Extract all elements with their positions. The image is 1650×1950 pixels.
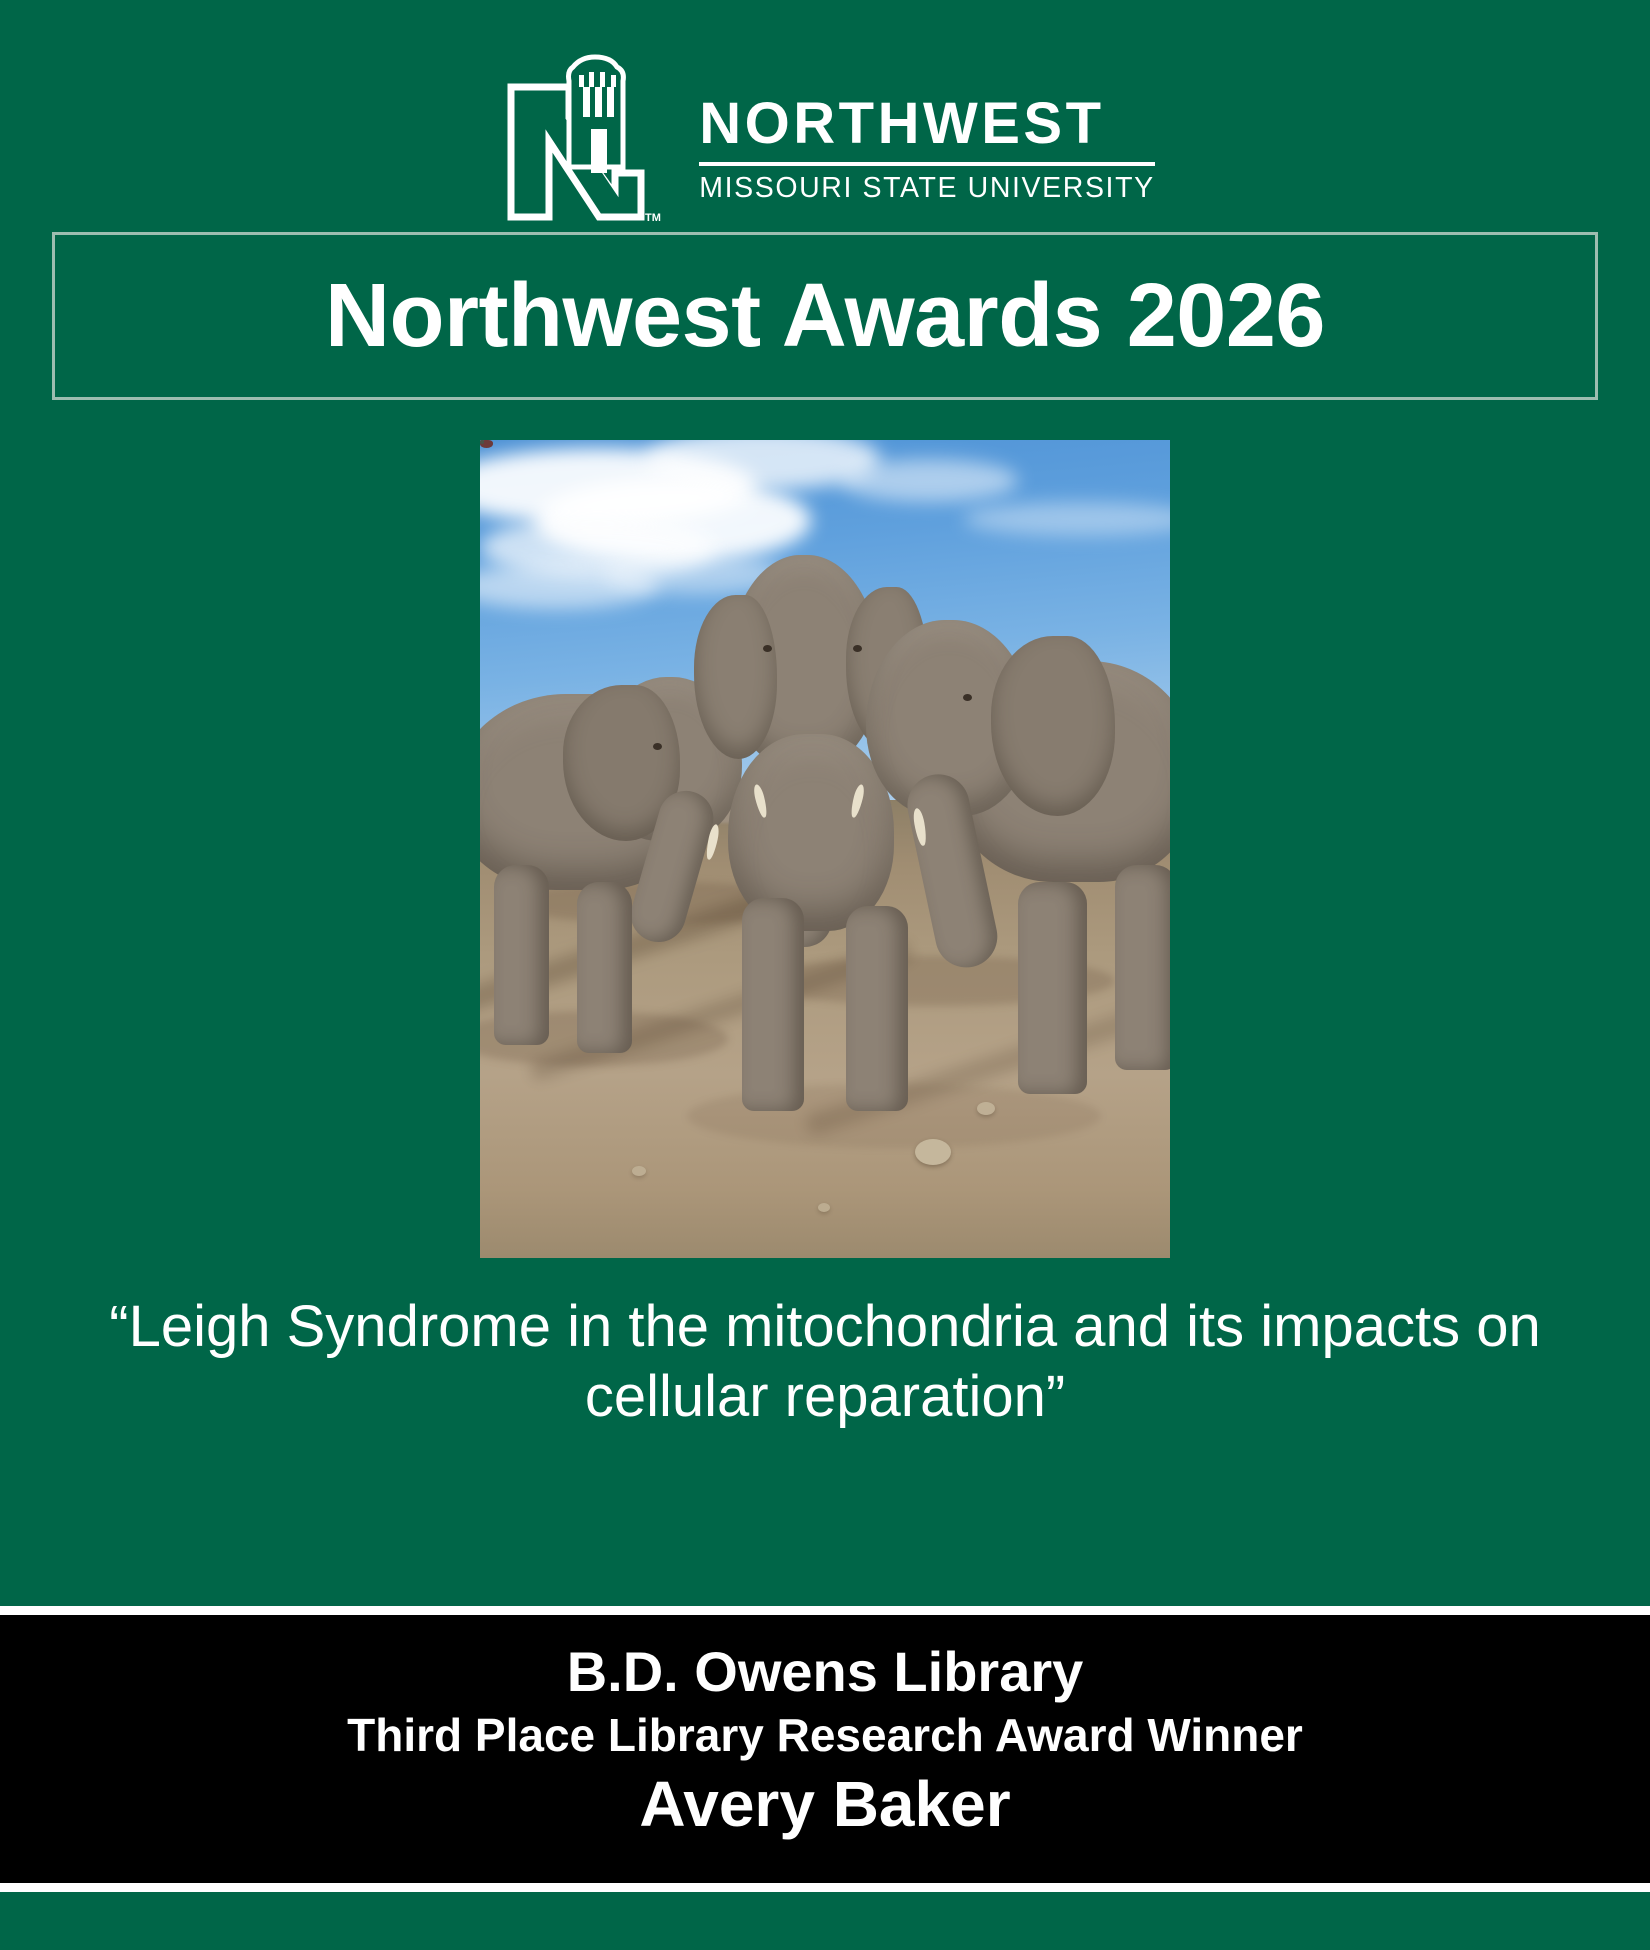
photo-section bbox=[0, 400, 1650, 1258]
footer-winner-name: Avery Baker bbox=[40, 1767, 1610, 1843]
footer-top-divider bbox=[0, 1606, 1650, 1615]
footer-bottom-divider bbox=[0, 1883, 1650, 1892]
logo-wordmark: NORTHWEST MISSOURI STATE UNIVERSITY bbox=[699, 67, 1154, 203]
page-title: Northwest Awards 2026 bbox=[325, 271, 1325, 361]
research-quote-section: “Leigh Syndrome in the mitochondria and … bbox=[0, 1258, 1650, 1606]
footer-section: B.D. Owens Library Third Place Library R… bbox=[0, 1615, 1650, 1883]
svg-text:TM: TM bbox=[645, 212, 661, 224]
logo-wordmark-bottom: MISSOURI STATE UNIVERSITY bbox=[699, 174, 1154, 203]
research-title-quote: “Leigh Syndrome in the mitochondria and … bbox=[45, 1292, 1605, 1431]
footer-library-name: B.D. Owens Library bbox=[40, 1639, 1610, 1705]
bottom-green-strip bbox=[0, 1892, 1650, 1950]
award-winner-photo bbox=[480, 440, 1170, 1258]
northwest-n-bell-tower-logo-icon: TM bbox=[495, 45, 675, 225]
title-section: Northwest Awards 2026 bbox=[0, 232, 1650, 400]
title-box: Northwest Awards 2026 bbox=[52, 232, 1598, 400]
university-logo: TM NORTHWEST MISSOURI STATE UNIVERSITY bbox=[0, 0, 1650, 232]
award-poster: TM NORTHWEST MISSOURI STATE UNIVERSITY N… bbox=[0, 0, 1650, 1950]
logo-wordmark-top: NORTHWEST bbox=[699, 95, 1154, 153]
logo-divider-rule bbox=[699, 162, 1154, 166]
footer-award-label: Third Place Library Research Award Winne… bbox=[40, 1707, 1610, 1763]
